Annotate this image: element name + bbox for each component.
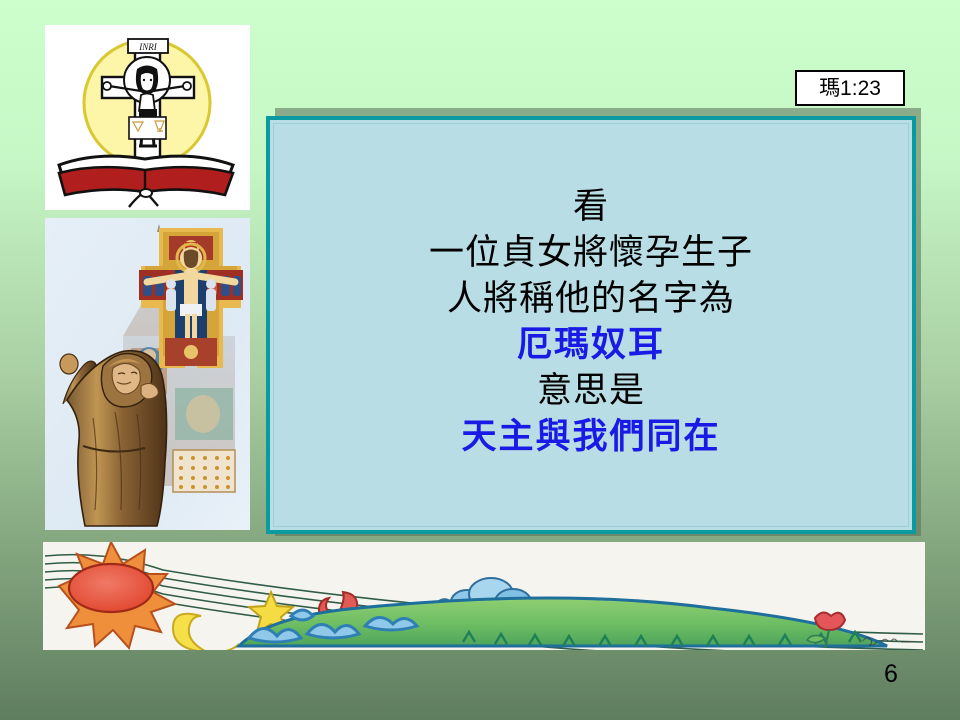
creation-banner-graphic	[43, 542, 925, 650]
page-number: 6	[884, 660, 898, 689]
creation-banner-image	[43, 542, 925, 650]
scripture-citation-box: 瑪1:23	[795, 70, 905, 106]
verse-line-6-emmanuel-meaning: 天主與我們同在	[270, 414, 912, 460]
presentation-slide: INRI	[0, 0, 960, 720]
svg-text:INRI: INRI	[138, 42, 157, 52]
verse-line-4-emmanuel-name: 厄瑪奴耳	[270, 322, 912, 368]
scripture-verse-box: 看 一位貞女將懷孕生子 人將稱他的名字為 厄瑪奴耳 意思是 天主與我們同在	[266, 116, 916, 534]
scripture-citation-label: 瑪1:23	[819, 78, 881, 99]
verse-text-block: 看 一位貞女將懷孕生子 人將稱他的名字為 厄瑪奴耳 意思是 天主與我們同在	[270, 184, 912, 466]
verse-line-5: 意思是	[270, 368, 912, 414]
crucifix-over-open-book-image: INRI	[45, 25, 250, 210]
verse-line-2: 一位貞女將懷孕生子	[270, 230, 912, 276]
saint-francis-san-damiano-cross-image	[45, 218, 250, 530]
francis-cross-graphic	[45, 218, 250, 530]
verse-line-1: 看	[270, 184, 912, 230]
verse-line-3: 人將稱他的名字為	[270, 276, 912, 322]
crucifix-book-graphic: INRI	[45, 25, 250, 210]
